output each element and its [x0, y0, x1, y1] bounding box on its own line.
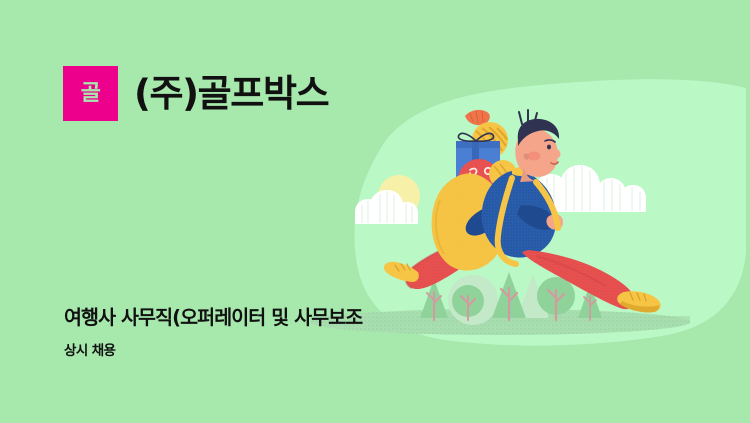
- employment-type: 상시 채용: [64, 343, 115, 359]
- company-logo-mark: 골: [63, 66, 118, 121]
- job-title: 여행사 사무직(오퍼레이터 및 사무보조: [64, 306, 362, 329]
- brand-row: 골 (주)골프박스: [63, 66, 328, 121]
- company-name: (주)골프박스: [134, 75, 328, 112]
- job-posting-card: 골 (주)골프박스 여행사 사무직(오퍼레이터 및 사무보조 상시 채용: [0, 0, 750, 423]
- illustration-running-person-with-gift-sack: [0, 0, 750, 423]
- company-logo-glyph: 골: [81, 83, 101, 105]
